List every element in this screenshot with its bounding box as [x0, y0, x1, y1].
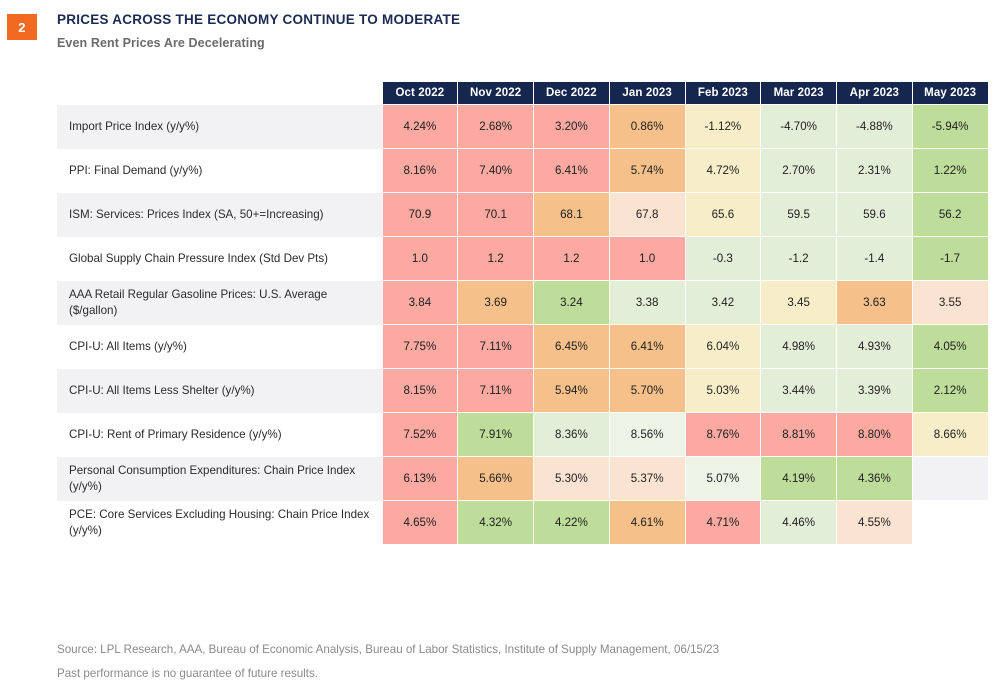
heatmap-cell: 5.74% [609, 149, 685, 193]
heatmap-cell: -0.3 [685, 237, 761, 281]
row-label: ISM: Services: Prices Index (SA, 50+=Inc… [57, 193, 382, 237]
column-header-month: May 2023 [912, 82, 988, 105]
heatmap-cell: 56.2 [912, 193, 988, 237]
heatmap-cell: 5.66% [458, 457, 534, 501]
table-row: ISM: Services: Prices Index (SA, 50+=Inc… [57, 193, 988, 237]
heatmap-cell: 8.15% [382, 369, 458, 413]
heatmap-cell: -1.4 [837, 237, 913, 281]
column-header-metric [57, 82, 382, 105]
table-row: AAA Retail Regular Gasoline Prices: U.S.… [57, 281, 988, 325]
heatmap-cell: 6.04% [685, 325, 761, 369]
heatmap-cell: 4.05% [912, 325, 988, 369]
heatmap-cell: 2.12% [912, 369, 988, 413]
heatmap-cell: 5.30% [534, 457, 610, 501]
heatmap-cell: 67.8 [609, 193, 685, 237]
heatmap-cell: 3.20% [534, 105, 610, 149]
heatmap-cell: 6.13% [382, 457, 458, 501]
column-header-month: Feb 2023 [685, 82, 761, 105]
heatmap-cell: 5.03% [685, 369, 761, 413]
column-header-month: Apr 2023 [837, 82, 913, 105]
heatmap-cell: 8.81% [761, 413, 837, 457]
heatmap-cell: 8.56% [609, 413, 685, 457]
table-header: Oct 2022 Nov 2022 Dec 2022 Jan 2023 Feb … [57, 82, 988, 105]
heatmap-table-container: Oct 2022 Nov 2022 Dec 2022 Jan 2023 Feb … [57, 82, 988, 545]
heatmap-cell: 3.69 [458, 281, 534, 325]
heatmap-cell: 5.37% [609, 457, 685, 501]
heatmap-cell: 1.0 [609, 237, 685, 281]
heatmap-cell: 3.45 [761, 281, 837, 325]
heatmap-cell: 7.11% [458, 369, 534, 413]
heatmap-cell: 4.19% [761, 457, 837, 501]
heatmap-cell: -4.88% [837, 105, 913, 149]
heatmap-cell: 7.52% [382, 413, 458, 457]
source-note: Source: LPL Research, AAA, Bureau of Eco… [57, 643, 957, 656]
heatmap-cell: 3.55 [912, 281, 988, 325]
heatmap-cell: 0.86% [609, 105, 685, 149]
heatmap-cell: 3.39% [837, 369, 913, 413]
price-heatmap-table: Oct 2022 Nov 2022 Dec 2022 Jan 2023 Feb … [57, 82, 989, 545]
row-label: CPI-U: Rent of Primary Residence (y/y%) [57, 413, 382, 457]
row-label: AAA Retail Regular Gasoline Prices: U.S.… [57, 281, 382, 325]
heatmap-cell: 70.9 [382, 193, 458, 237]
column-header-month: Oct 2022 [382, 82, 458, 105]
heatmap-cell: 4.22% [534, 501, 610, 545]
heatmap-cell: 6.41% [534, 149, 610, 193]
heatmap-cell: 8.16% [382, 149, 458, 193]
heatmap-cell: 4.93% [837, 325, 913, 369]
heatmap-cell [912, 457, 988, 501]
heatmap-cell: 5.94% [534, 369, 610, 413]
heatmap-cell: 68.1 [534, 193, 610, 237]
heatmap-cell: 4.98% [761, 325, 837, 369]
heatmap-cell: 3.44% [761, 369, 837, 413]
row-label: Personal Consumption Expenditures: Chain… [57, 457, 382, 501]
heatmap-cell [912, 501, 988, 545]
page-header: 2 PRICES ACROSS THE ECONOMY CONTINUE TO … [0, 0, 994, 70]
heatmap-cell: 2.70% [761, 149, 837, 193]
heatmap-cell: 4.36% [837, 457, 913, 501]
heatmap-cell: -1.12% [685, 105, 761, 149]
table-row: Global Supply Chain Pressure Index (Std … [57, 237, 988, 281]
page-number-badge: 2 [7, 14, 37, 40]
heatmap-cell: 1.2 [458, 237, 534, 281]
disclaimer-note: Past performance is no guarantee of futu… [57, 667, 957, 680]
heatmap-cell: 70.1 [458, 193, 534, 237]
heatmap-cell: -4.70% [761, 105, 837, 149]
row-label: Global Supply Chain Pressure Index (Std … [57, 237, 382, 281]
heatmap-cell: 2.31% [837, 149, 913, 193]
column-header-month: Jan 2023 [609, 82, 685, 105]
table-row: PPI: Final Demand (y/y%)8.16%7.40%6.41%5… [57, 149, 988, 193]
heatmap-cell: 8.36% [534, 413, 610, 457]
heatmap-cell: 4.61% [609, 501, 685, 545]
heatmap-cell: 1.0 [382, 237, 458, 281]
table-row: Import Price Index (y/y%)4.24%2.68%3.20%… [57, 105, 988, 149]
row-label: PPI: Final Demand (y/y%) [57, 149, 382, 193]
table-row: PCE: Core Services Excluding Housing: Ch… [57, 501, 988, 545]
heatmap-cell: 4.55% [837, 501, 913, 545]
heatmap-cell: 3.24 [534, 281, 610, 325]
heatmap-cell: 5.70% [609, 369, 685, 413]
heatmap-cell: 3.38 [609, 281, 685, 325]
heatmap-cell: 6.41% [609, 325, 685, 369]
heatmap-cell: 59.6 [837, 193, 913, 237]
heatmap-cell: 59.5 [761, 193, 837, 237]
row-label: CPI-U: All Items (y/y%) [57, 325, 382, 369]
table-row: CPI-U: All Items (y/y%)7.75%7.11%6.45%6.… [57, 325, 988, 369]
table-header-row: Oct 2022 Nov 2022 Dec 2022 Jan 2023 Feb … [57, 82, 988, 105]
table-row: Personal Consumption Expenditures: Chain… [57, 457, 988, 501]
page-title: PRICES ACROSS THE ECONOMY CONTINUE TO MO… [57, 12, 460, 27]
heatmap-cell: 8.76% [685, 413, 761, 457]
row-label: CPI-U: All Items Less Shelter (y/y%) [57, 369, 382, 413]
row-label: Import Price Index (y/y%) [57, 105, 382, 149]
heatmap-cell: 7.40% [458, 149, 534, 193]
heatmap-cell: 3.42 [685, 281, 761, 325]
heatmap-cell: 8.66% [912, 413, 988, 457]
heatmap-cell: 4.24% [382, 105, 458, 149]
heatmap-cell: 3.84 [382, 281, 458, 325]
heatmap-cell: 7.11% [458, 325, 534, 369]
heatmap-cell: -1.7 [912, 237, 988, 281]
page-subtitle: Even Rent Prices Are Decelerating [57, 36, 265, 50]
heatmap-cell: 1.2 [534, 237, 610, 281]
heatmap-cell: -1.2 [761, 237, 837, 281]
heatmap-cell: 5.07% [685, 457, 761, 501]
table-body: Import Price Index (y/y%)4.24%2.68%3.20%… [57, 105, 988, 545]
heatmap-cell: 3.63 [837, 281, 913, 325]
heatmap-cell: 4.32% [458, 501, 534, 545]
heatmap-cell: 4.71% [685, 501, 761, 545]
heatmap-cell: -5.94% [912, 105, 988, 149]
row-label: PCE: Core Services Excluding Housing: Ch… [57, 501, 382, 545]
heatmap-cell: 4.46% [761, 501, 837, 545]
heatmap-cell: 4.72% [685, 149, 761, 193]
heatmap-cell: 6.45% [534, 325, 610, 369]
heatmap-cell: 7.91% [458, 413, 534, 457]
heatmap-cell: 7.75% [382, 325, 458, 369]
column-header-month: Nov 2022 [458, 82, 534, 105]
table-row: CPI-U: All Items Less Shelter (y/y%)8.15… [57, 369, 988, 413]
heatmap-cell: 8.80% [837, 413, 913, 457]
heatmap-cell: 2.68% [458, 105, 534, 149]
heatmap-cell: 1.22% [912, 149, 988, 193]
heatmap-cell: 4.65% [382, 501, 458, 545]
page-footer: Source: LPL Research, AAA, Bureau of Eco… [57, 643, 957, 680]
column-header-month: Mar 2023 [761, 82, 837, 105]
table-row: CPI-U: Rent of Primary Residence (y/y%)7… [57, 413, 988, 457]
heatmap-cell: 65.6 [685, 193, 761, 237]
column-header-month: Dec 2022 [534, 82, 610, 105]
